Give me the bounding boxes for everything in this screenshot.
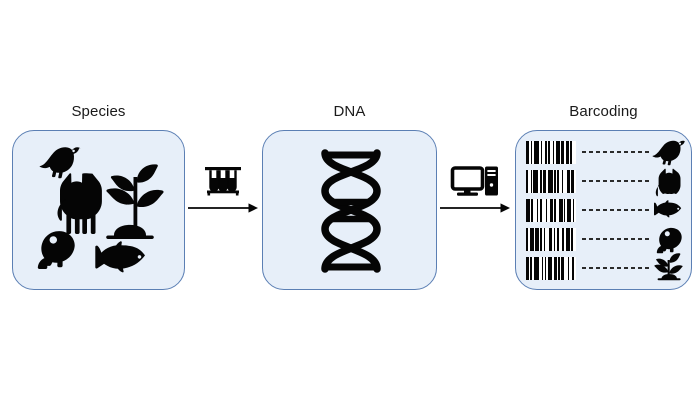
bird-icon: [652, 139, 686, 165]
frog-icon: [37, 231, 79, 269]
dna-helix-icon: [313, 150, 389, 272]
barcode-row: [516, 255, 691, 281]
cat-icon: [57, 173, 103, 235]
fish-icon: [652, 197, 686, 223]
barcode-icon: [526, 141, 576, 164]
dashed-link: [582, 180, 650, 182]
panel-dna: [262, 130, 437, 290]
barcode-icon: [526, 199, 576, 222]
arrow-right-icon: [188, 201, 258, 215]
barcode-icon: [526, 257, 576, 280]
barcode-icon: [526, 170, 576, 193]
plant-icon: [106, 163, 164, 239]
panel-label-species: Species: [12, 103, 185, 121]
diagram-canvas: Species: [0, 0, 700, 413]
barcode-row: [516, 168, 691, 194]
computer-icon: [451, 165, 499, 197]
barcode-row: [516, 226, 691, 252]
barcode-icon: [526, 228, 576, 251]
plant-icon: [652, 255, 686, 281]
barcode-row: [516, 197, 691, 223]
panel-label-dna: DNA: [262, 103, 437, 121]
test-tubes-icon: [203, 165, 243, 197]
connector-sequencing: [440, 165, 510, 215]
fish-icon: [93, 241, 155, 273]
connector-extraction: [188, 165, 258, 215]
arrow-right-icon: [440, 201, 510, 215]
frog-icon: [652, 226, 686, 252]
dashed-link: [582, 238, 650, 240]
panel-barcoding: [515, 130, 692, 290]
dashed-link: [582, 267, 650, 269]
panel-species: [12, 130, 185, 290]
dashed-link: [582, 151, 650, 153]
dashed-link: [582, 209, 650, 211]
barcode-row: [516, 139, 691, 165]
panel-label-barcoding: Barcoding: [515, 103, 692, 121]
cat-icon: [652, 168, 686, 194]
